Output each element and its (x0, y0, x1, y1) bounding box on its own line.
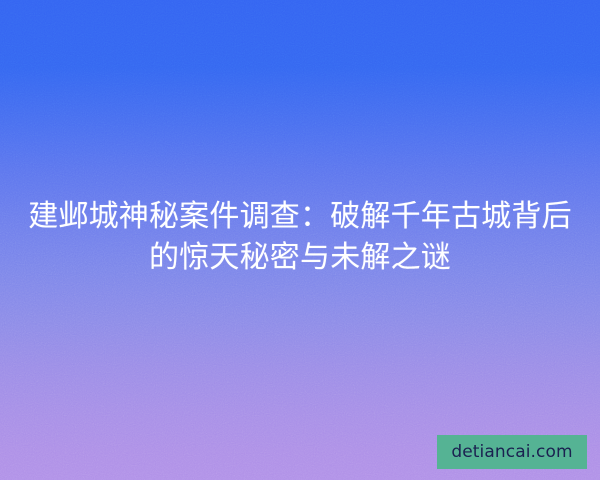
watermark-label: detiancai.com (451, 444, 572, 461)
title-text: 建邺城神秘案件调查：破解千年古城背后 的惊天秘密与未解之谜 (20, 196, 580, 278)
page-title: 建邺城神秘案件调查：破解千年古城背后 的惊天秘密与未解之谜 (0, 196, 600, 278)
watermark-badge: detiancai.com (437, 435, 587, 469)
title-card-canvas: 建邺城神秘案件调查：破解千年古城背后 的惊天秘密与未解之谜 detiancai.… (0, 0, 600, 480)
